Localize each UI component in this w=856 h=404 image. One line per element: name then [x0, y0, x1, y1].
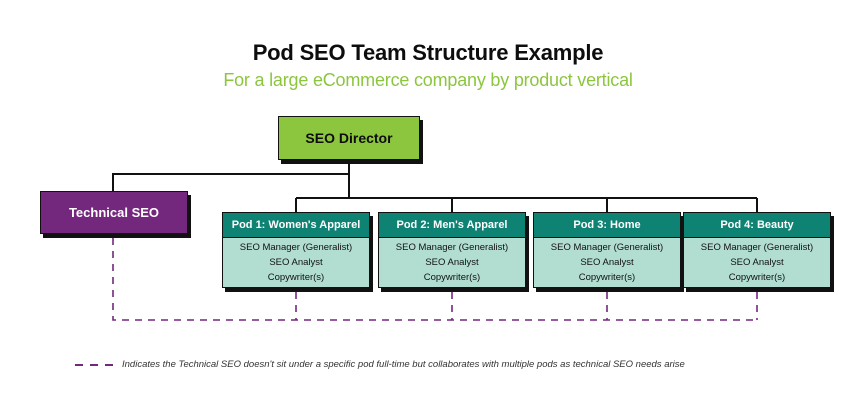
pod-4-header: Pod 4: Beauty: [684, 213, 830, 238]
node-face: Pod 3: Home SEO Manager (Generalist) SEO…: [533, 212, 681, 288]
solid-connectors: [113, 160, 757, 212]
pod-2-role: Copywriter(s): [424, 271, 480, 284]
pod-1-role: SEO Manager (Generalist): [240, 241, 352, 254]
seo-director-label: SEO Director: [278, 116, 420, 160]
connector-to-technical-seo: [113, 174, 349, 191]
page-title: Pod SEO Team Structure Example: [0, 40, 856, 66]
pod-1-role: Copywriter(s): [268, 271, 324, 284]
pod-3-role: SEO Analyst: [580, 256, 633, 269]
chart-heading: Pod SEO Team Structure Example For a lar…: [0, 40, 856, 92]
node-pod-4[interactable]: Pod 4: Beauty SEO Manager (Generalist) S…: [683, 212, 831, 288]
node-seo-director[interactable]: SEO Director: [278, 116, 420, 160]
pod-1-roles: SEO Manager (Generalist) SEO Analyst Cop…: [223, 238, 369, 287]
pod-4-role: SEO Manager (Generalist): [701, 241, 813, 254]
pod-4-role: SEO Analyst: [730, 256, 783, 269]
pod-3-title: Pod 3: Home: [573, 219, 640, 231]
page-subtitle: For a large eCommerce company by product…: [0, 68, 856, 92]
pod-3-roles: SEO Manager (Generalist) SEO Analyst Cop…: [534, 238, 680, 287]
node-face: Pod 4: Beauty SEO Manager (Generalist) S…: [683, 212, 831, 288]
dashed-line-icon: [75, 364, 113, 366]
pod-4-roles: SEO Manager (Generalist) SEO Analyst Cop…: [684, 238, 830, 287]
pod-2-roles: SEO Manager (Generalist) SEO Analyst Cop…: [379, 238, 525, 287]
pod-4-role: Copywriter(s): [729, 271, 785, 284]
pod-1-role: SEO Analyst: [269, 256, 322, 269]
pod-2-role: SEO Analyst: [425, 256, 478, 269]
node-pod-1[interactable]: Pod 1: Women's Apparel SEO Manager (Gene…: [222, 212, 370, 288]
pod-1-title: Pod 1: Women's Apparel: [232, 219, 361, 231]
node-face: Pod 2: Men's Apparel SEO Manager (Genera…: [378, 212, 526, 288]
node-pod-2[interactable]: Pod 2: Men's Apparel SEO Manager (Genera…: [378, 212, 526, 288]
node-technical-seo[interactable]: Technical SEO: [40, 191, 188, 234]
pod-2-title: Pod 2: Men's Apparel: [396, 219, 507, 231]
legend: Indicates the Technical SEO doesn't sit …: [75, 358, 835, 372]
pod-3-role: SEO Manager (Generalist): [551, 241, 663, 254]
technical-seo-label: Technical SEO: [40, 191, 188, 234]
pod-4-title: Pod 4: Beauty: [720, 219, 793, 231]
node-face: Pod 1: Women's Apparel SEO Manager (Gene…: [222, 212, 370, 288]
node-pod-3[interactable]: Pod 3: Home SEO Manager (Generalist) SEO…: [533, 212, 681, 288]
pod-3-header: Pod 3: Home: [534, 213, 680, 238]
pod-2-role: SEO Manager (Generalist): [396, 241, 508, 254]
legend-text: Indicates the Technical SEO doesn't sit …: [122, 358, 685, 372]
pod-2-header: Pod 2: Men's Apparel: [379, 213, 525, 238]
pod-3-role: Copywriter(s): [579, 271, 635, 284]
pod-1-header: Pod 1: Women's Apparel: [223, 213, 369, 238]
